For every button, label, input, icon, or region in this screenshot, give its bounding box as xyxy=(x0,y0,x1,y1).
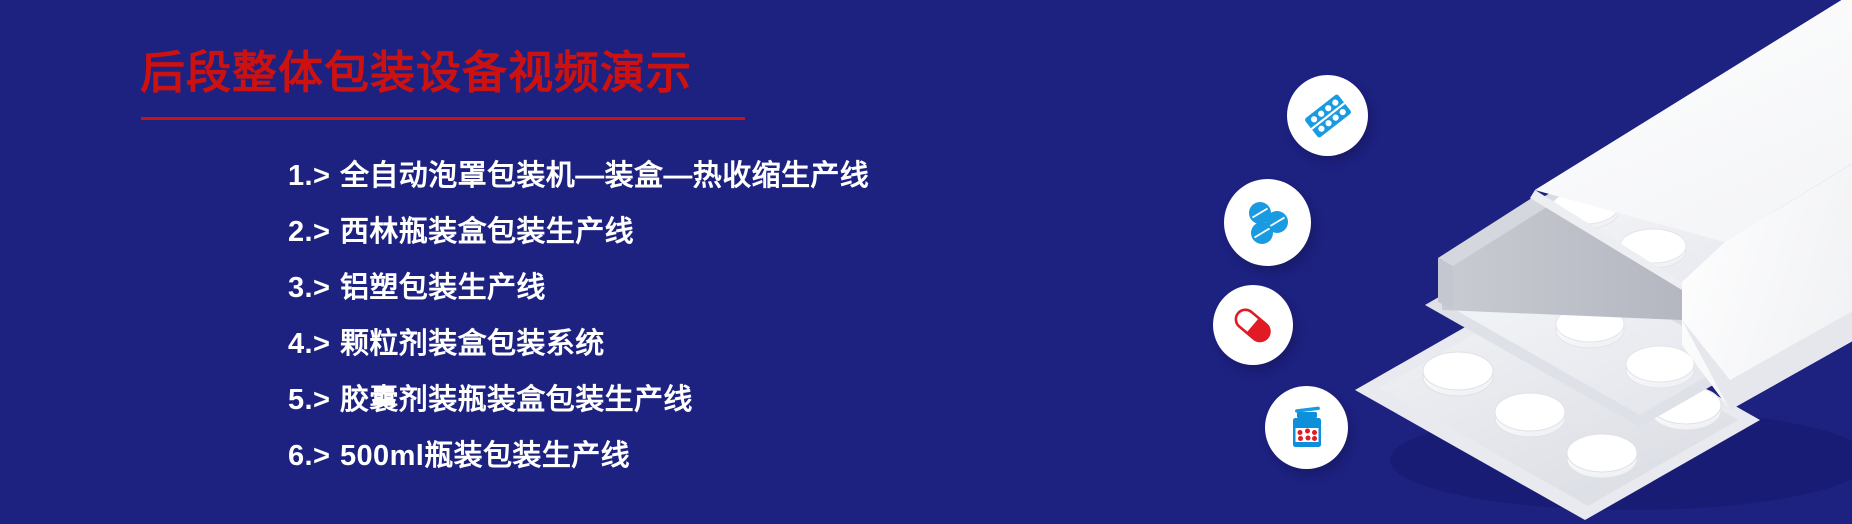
page-title: 后段整体包装设备视频演示 xyxy=(140,47,692,99)
tablets-icon-bubble xyxy=(1224,179,1311,266)
list-item-label: 500ml瓶装包装生产线 xyxy=(340,428,630,484)
list-item-index: 2.> xyxy=(288,204,340,260)
list-item[interactable]: 5.>胶囊剂装瓶装盒包装生产线 xyxy=(288,372,869,428)
list-item-label: 铝塑包装生产线 xyxy=(340,260,546,316)
list-item-label: 西林瓶装盒包装生产线 xyxy=(340,204,634,260)
list-item-index: 6.> xyxy=(288,428,340,484)
list-item[interactable]: 2.>西林瓶装盒包装生产线 xyxy=(288,204,869,260)
text-block: 后段整体包装设备视频演示 1.>全自动泡罩包装机—装盒—热收缩生产线 2.>西林… xyxy=(0,0,1100,524)
list-item[interactable]: 1.>全自动泡罩包装机—装盒—热收缩生产线 xyxy=(288,148,869,204)
list-item[interactable]: 3.>铝塑包装生产线 xyxy=(288,260,869,316)
list-item-label: 胶囊剂装瓶装盒包装生产线 xyxy=(340,372,693,428)
list-item-label: 全自动泡罩包装机—装盒—热收缩生产线 xyxy=(340,148,869,204)
capsule-icon xyxy=(1227,299,1279,351)
list-item-index: 5.> xyxy=(288,372,340,428)
pill-bottle-icon xyxy=(1280,401,1334,455)
list-item[interactable]: 4.>颗粒剂装盒包装系统 xyxy=(288,316,869,372)
tablets-icon xyxy=(1240,195,1296,251)
list-item[interactable]: 6.>500ml瓶装包装生产线 xyxy=(288,428,869,484)
list-item-index: 3.> xyxy=(288,260,340,316)
carton-with-blister-packs xyxy=(1330,0,1852,524)
feature-list: 1.>全自动泡罩包装机—装盒—热收缩生产线 2.>西林瓶装盒包装生产线 3.>铝… xyxy=(288,148,869,484)
list-item-label: 颗粒剂装盒包装系统 xyxy=(340,316,605,372)
list-item-index: 1.> xyxy=(288,148,340,204)
list-item-index: 4.> xyxy=(288,316,340,372)
promo-banner: 后段整体包装设备视频演示 1.>全自动泡罩包装机—装盒—热收缩生产线 2.>西林… xyxy=(0,0,1852,524)
carton-illustration xyxy=(1330,0,1852,524)
title-underline xyxy=(141,117,745,120)
capsule-icon-bubble xyxy=(1213,285,1293,365)
